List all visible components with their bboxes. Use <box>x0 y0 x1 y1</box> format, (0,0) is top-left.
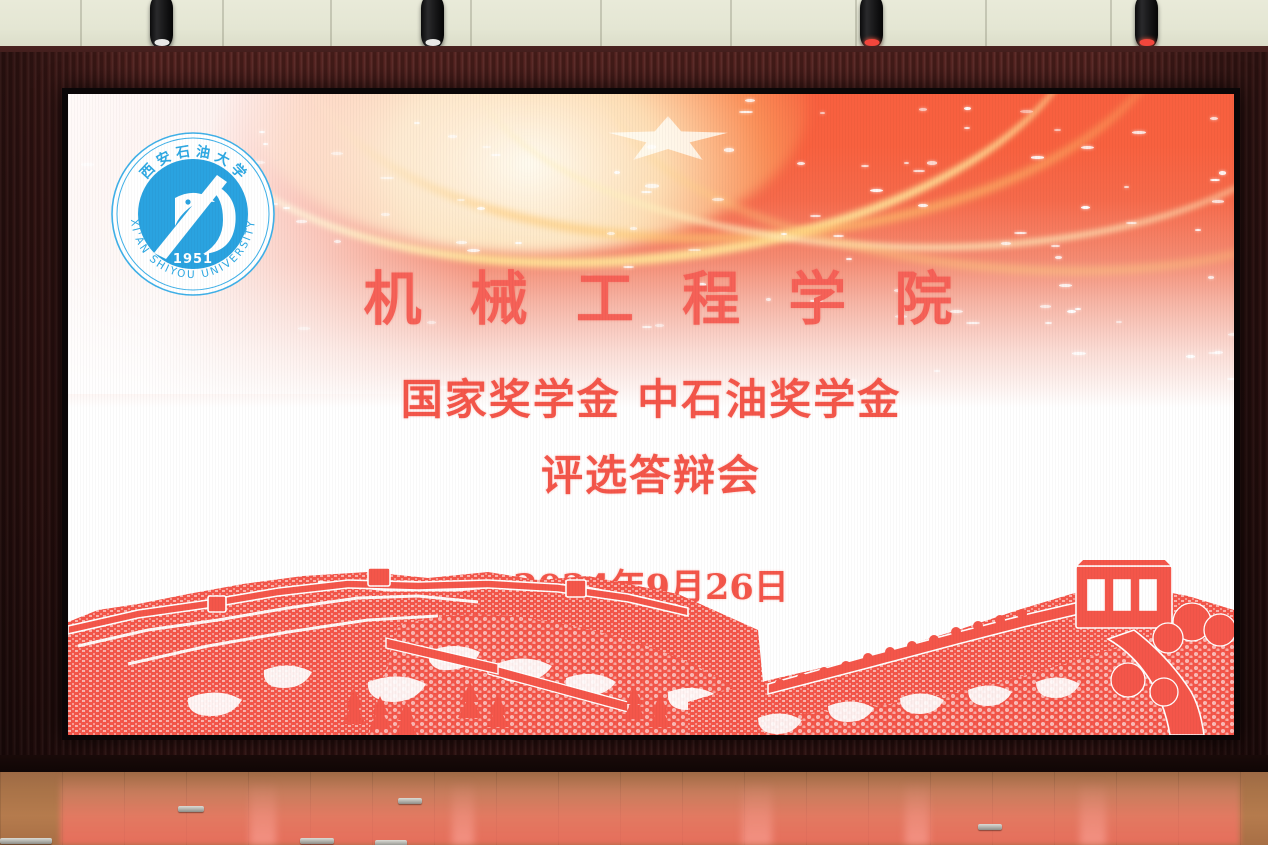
light-dot <box>1001 242 1011 244</box>
ceiling-spotlight <box>421 0 444 49</box>
light-dot <box>1208 352 1221 354</box>
floor-object <box>398 798 422 804</box>
light-dot <box>1031 156 1043 158</box>
ceiling-spotlight <box>1135 0 1158 49</box>
light-dot <box>688 249 700 251</box>
light-dot <box>919 108 927 111</box>
light-dot <box>861 165 870 167</box>
light-dot <box>1072 352 1085 355</box>
light-dot <box>724 148 735 151</box>
screen-reflection-on-floor <box>60 772 1240 845</box>
light-dot <box>1020 110 1033 113</box>
light-dot <box>647 145 656 148</box>
floor-object <box>978 824 1002 830</box>
page-title: 机 械 工 程 学 院 <box>68 252 1234 336</box>
light-dot <box>331 152 343 155</box>
light-dot <box>630 227 637 230</box>
ceiling <box>0 0 1268 52</box>
ceiling-spotlight <box>150 0 173 49</box>
floor-object <box>300 838 334 844</box>
led-screen[interactable]: 1951 西 安 石 油 大 学 XI'AN SHIYOU UNIVERSITY… <box>68 94 1234 735</box>
ceiling-spotlight <box>860 0 883 49</box>
light-dot <box>296 220 308 223</box>
light-dot <box>1210 179 1220 181</box>
light-dot <box>334 240 341 243</box>
subtitle-line-2: 评选答辩会 <box>68 442 1234 503</box>
light-dot <box>918 204 927 208</box>
light-dot <box>927 161 937 164</box>
light-dot <box>477 207 485 210</box>
light-dot <box>833 235 844 237</box>
light-dot <box>1212 200 1224 202</box>
floor-object <box>178 806 204 812</box>
light-dot <box>641 191 652 193</box>
light-dot <box>964 127 971 129</box>
light-dot <box>283 207 290 209</box>
floor-object <box>0 838 52 844</box>
great-wall-papercut-illustration <box>68 560 1234 735</box>
subtitle-line-1: 国家奖学金 中石油奖学金 <box>68 366 1234 427</box>
light-dot <box>870 189 883 192</box>
auditorium-room: 1951 西 安 石 油 大 学 XI'AN SHIYOU UNIVERSITY… <box>0 0 1268 845</box>
light-dot <box>456 241 467 244</box>
light-dot <box>491 154 502 156</box>
light-dot <box>448 135 458 138</box>
floor-object <box>375 840 407 845</box>
light-dot <box>645 184 659 188</box>
light-dot <box>1219 171 1226 174</box>
